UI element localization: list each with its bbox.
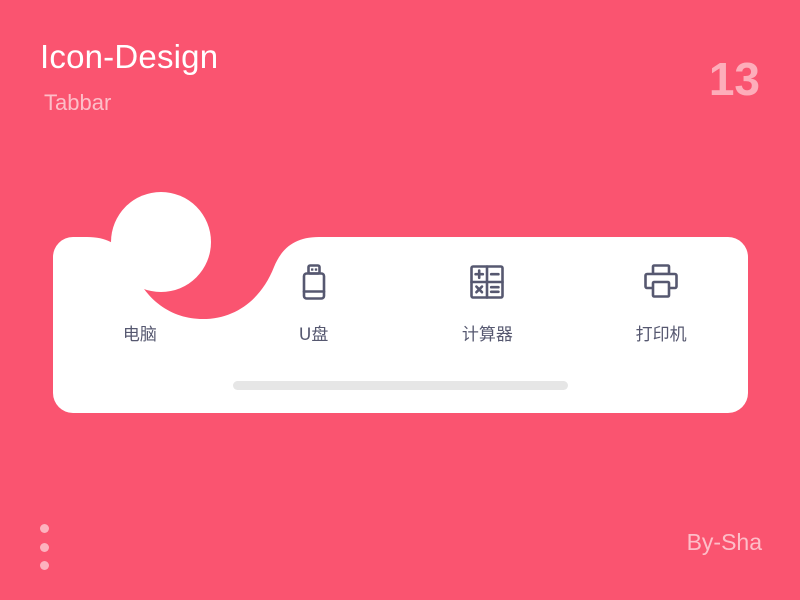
tab-label-printer: 打印机 — [636, 324, 687, 346]
dot-2 — [40, 543, 49, 552]
dot-3 — [40, 561, 49, 570]
home-indicator[interactable] — [233, 381, 568, 390]
tab-label-usb: U盘 — [299, 324, 328, 346]
tab-label-computer: 电脑 — [123, 324, 157, 346]
usb-drive-icon — [292, 260, 336, 304]
dot-1 — [40, 524, 49, 533]
tab-label-calculator: 计算器 — [462, 324, 513, 346]
calculator-icon — [465, 260, 509, 304]
design-number-badge: 13 — [709, 52, 760, 106]
canvas: Icon-Design Tabbar 13 电脑 — [0, 0, 800, 600]
tab-item-computer[interactable]: 电脑 — [53, 188, 227, 414]
tab-item-printer[interactable]: 打印机 — [574, 188, 748, 414]
page-subtitle: Tabbar — [44, 88, 111, 118]
credit-label: By-Sha — [687, 527, 762, 557]
printer-icon — [639, 260, 683, 304]
vertical-dots-icon[interactable] — [37, 524, 51, 570]
page-title: Icon-Design — [40, 36, 218, 78]
